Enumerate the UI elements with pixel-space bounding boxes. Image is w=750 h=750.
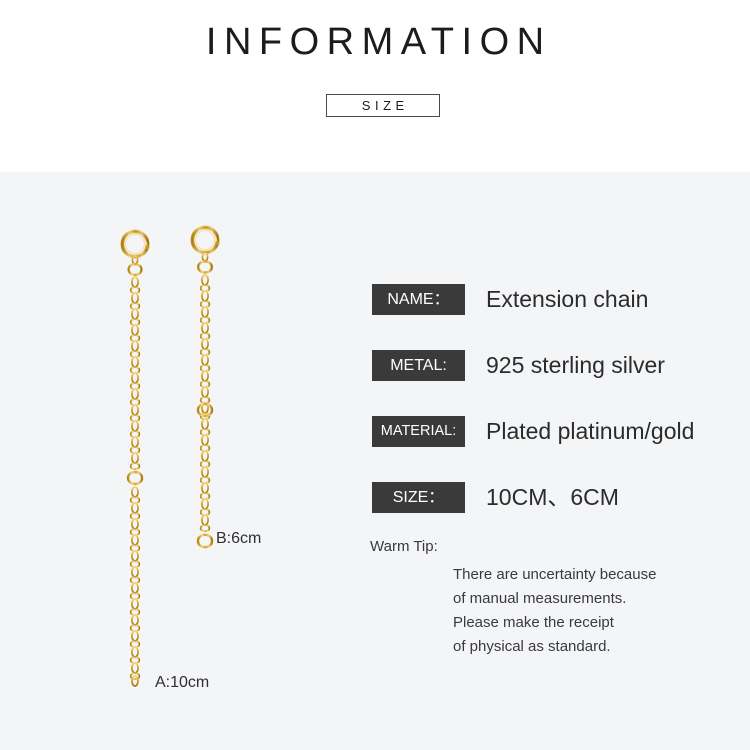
size-badge: SIZE <box>326 94 440 117</box>
spec-value-name: Extension chain <box>486 281 648 317</box>
spec-value-material: Plated platinum/gold <box>486 413 694 449</box>
warm-tip-line: of manual measurements. <box>453 587 730 611</box>
information-panel: INFORMATION SIZE <box>0 0 750 750</box>
chain-illustration: 􀀀 <box>0 172 340 750</box>
chain-b-graphic: 􀀀 <box>192 227 219 547</box>
spec-label-size: SIZE： <box>372 482 465 513</box>
warm-tip-line: There are uncertainty because <box>453 563 730 587</box>
spec-row-name: NAME： Extension chain <box>372 284 732 350</box>
chain-b-measurement-label: B:6cm <box>216 530 261 548</box>
warm-tip-lines: There are uncertainty because of manual … <box>370 563 730 659</box>
spec-value-size: 10CM、6CM <box>486 479 619 515</box>
warm-tip-block: Warm Tip: There are uncertainty because … <box>370 538 730 659</box>
spec-row-material: MATERIAL: Plated platinum/gold <box>372 416 732 482</box>
spec-label-name: NAME： <box>372 284 465 315</box>
header-section: INFORMATION SIZE <box>0 0 750 172</box>
spec-value-metal: 925 sterling silver <box>486 347 665 383</box>
spec-label-metal: METAL: <box>372 350 465 381</box>
chain-images: 􀀀 <box>0 172 340 750</box>
warm-tip-line: of physical as standard. <box>453 635 730 659</box>
spec-label-material: MATERIAL: <box>372 416 465 447</box>
warm-tip-line: Please make the receipt <box>453 611 730 635</box>
product-section: 􀀀 <box>0 172 750 750</box>
chain-a-measurement-label: A:10cm <box>155 674 209 692</box>
chain-a-graphic <box>122 231 149 686</box>
size-badge-label: SIZE <box>327 95 439 116</box>
specification-list: NAME： Extension chain METAL: 925 sterlin… <box>372 284 732 548</box>
spec-row-metal: METAL: 925 sterling silver <box>372 350 732 416</box>
page-title: INFORMATION <box>0 21 750 64</box>
warm-tip-title: Warm Tip: <box>370 538 730 556</box>
